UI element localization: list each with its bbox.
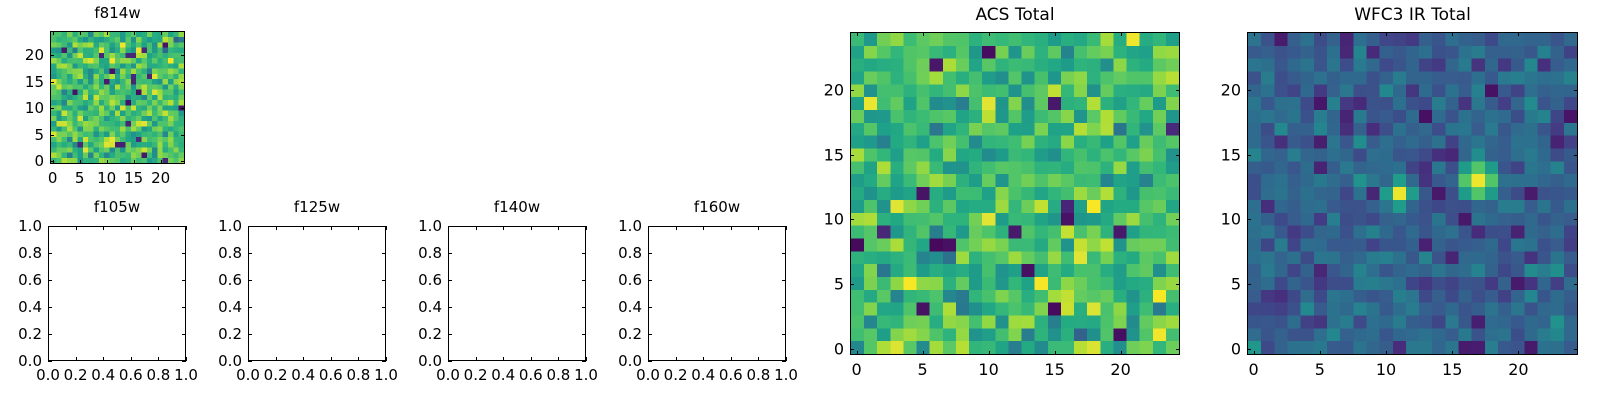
axis-tick-mark — [48, 280, 52, 281]
ytick-label-f125w: 0.8 — [188, 244, 242, 262]
plot-area-f125w[interactable] — [248, 226, 386, 361]
axis-tick-mark — [582, 253, 586, 254]
axis-tick-mark — [703, 226, 704, 230]
axis-tick-mark — [1574, 284, 1578, 285]
xtick-label-wfc3: 10 — [1376, 360, 1396, 379]
ytick-label-wfc3: 15 — [1187, 145, 1241, 164]
xtick-label-f105w: 0.6 — [119, 366, 143, 384]
plot-area-f160w[interactable] — [648, 226, 786, 361]
ytick-label-f125w: 0.0 — [188, 352, 242, 370]
xtick-label-f105w: 0.8 — [146, 366, 170, 384]
axis-tick-mark — [48, 357, 49, 361]
axis-tick-mark — [1386, 32, 1387, 36]
axis-tick-mark — [448, 334, 452, 335]
ytick-label-acs: 10 — [790, 210, 844, 229]
xtick-label-acs: 10 — [978, 360, 998, 379]
axis-tick-mark — [648, 253, 652, 254]
ytick-label-wfc3: 20 — [1187, 81, 1241, 100]
axis-tick-mark — [850, 155, 854, 156]
axis-tick-mark — [186, 357, 187, 361]
axis-tick-mark — [782, 334, 786, 335]
ytick-label-acs: 15 — [790, 145, 844, 164]
axis-tick-mark — [582, 307, 586, 308]
ytick-label-f125w: 0.6 — [188, 271, 242, 289]
axis-tick-mark — [758, 357, 759, 361]
axis-tick-mark — [382, 334, 386, 335]
ytick-label-f140w: 0.8 — [388, 244, 442, 262]
xtick-label-acs: 15 — [1044, 360, 1064, 379]
axis-tick-mark — [1518, 32, 1519, 36]
ytick-label-wfc3: 0 — [1187, 339, 1241, 358]
axis-tick-mark — [558, 226, 559, 230]
axis-tick-mark — [448, 280, 452, 281]
xtick-label-f160w: 0.8 — [746, 366, 770, 384]
ytick-label-f160w: 0.2 — [588, 325, 642, 343]
xtick-label-f105w: 0.0 — [36, 366, 60, 384]
axis-tick-mark — [1320, 32, 1321, 36]
ytick-label-wfc3: 5 — [1187, 274, 1241, 293]
axis-tick-mark — [1176, 90, 1180, 91]
ytick-label-f140w: 1.0 — [388, 217, 442, 235]
axis-tick-mark — [248, 357, 249, 361]
ytick-label-acs: 20 — [790, 81, 844, 100]
axis-tick-mark — [857, 351, 858, 355]
axis-tick-mark — [182, 334, 186, 335]
axis-tick-mark — [1247, 90, 1251, 91]
axis-tick-mark — [731, 226, 732, 230]
heatmap-wfc3 — [1248, 33, 1577, 354]
axis-tick-mark — [76, 226, 77, 230]
axis-tick-mark — [1055, 32, 1056, 36]
axis-tick-mark — [648, 357, 649, 361]
axis-tick-mark — [331, 357, 332, 361]
axis-tick-mark — [582, 361, 586, 362]
axis-tick-mark — [782, 280, 786, 281]
axis-tick-mark — [48, 226, 49, 230]
axis-tick-mark — [1574, 155, 1578, 156]
ytick-label-f160w: 0.4 — [588, 298, 642, 316]
xtick-label-f140w: 0.0 — [436, 366, 460, 384]
plot-area-wfc3[interactable] — [1247, 32, 1578, 355]
axis-tick-mark — [76, 357, 77, 361]
axis-tick-mark — [448, 357, 449, 361]
xtick-label-f160w: 0.4 — [691, 366, 715, 384]
xtick-label-wfc3: 0 — [1249, 360, 1259, 379]
subplot-acs: ACS Total0510152005101520 — [790, 0, 1240, 400]
axis-tick-mark — [1254, 32, 1255, 36]
axis-tick-mark — [1176, 349, 1180, 350]
ytick-label-f140w: 0.2 — [388, 325, 442, 343]
axis-tick-mark — [1452, 351, 1453, 355]
ytick-label-acs: 5 — [790, 274, 844, 293]
axis-tick-mark — [782, 307, 786, 308]
axis-tick-mark — [758, 226, 759, 230]
axis-tick-mark — [531, 357, 532, 361]
axis-tick-mark — [1574, 349, 1578, 350]
xtick-label-wfc3: 5 — [1315, 360, 1325, 379]
ytick-label-f105w: 0.8 — [0, 244, 42, 262]
axis-tick-mark — [503, 226, 504, 230]
axis-tick-mark — [386, 226, 387, 230]
axis-tick-mark — [131, 226, 132, 230]
axis-tick-mark — [248, 361, 252, 362]
axis-tick-mark — [1574, 90, 1578, 91]
axis-tick-mark — [358, 226, 359, 230]
axis-tick-mark — [923, 32, 924, 36]
axis-tick-mark — [131, 357, 132, 361]
ytick-label-f160w: 0.6 — [588, 271, 642, 289]
axis-tick-mark — [582, 280, 586, 281]
xtick-label-f105w: 0.2 — [64, 366, 88, 384]
axis-tick-mark — [1574, 219, 1578, 220]
xtick-label-wfc3: 15 — [1442, 360, 1462, 379]
axis-tick-mark — [1386, 351, 1387, 355]
axis-tick-mark — [303, 357, 304, 361]
xtick-label-f160w: 0.2 — [664, 366, 688, 384]
axis-tick-mark — [648, 361, 652, 362]
axis-tick-mark — [1176, 219, 1180, 220]
plot-area-f140w[interactable] — [448, 226, 586, 361]
axis-tick-mark — [1247, 349, 1251, 350]
axis-tick-mark — [782, 253, 786, 254]
axis-tick-mark — [503, 357, 504, 361]
axis-tick-mark — [923, 351, 924, 355]
ytick-label-f160w: 1.0 — [588, 217, 642, 235]
axis-tick-mark — [48, 334, 52, 335]
axis-tick-mark — [158, 226, 159, 230]
xtick-label-f160w: 0.0 — [636, 366, 660, 384]
ytick-label-f105w: 1.0 — [0, 217, 42, 235]
axis-tick-mark — [1247, 284, 1251, 285]
axis-tick-mark — [386, 357, 387, 361]
axis-tick-mark — [850, 349, 854, 350]
axis-tick-mark — [48, 361, 52, 362]
ytick-label-f105w: 0.6 — [0, 271, 42, 289]
ytick-label-acs: 0 — [790, 339, 844, 358]
xtick-label-acs: 5 — [918, 360, 928, 379]
axis-tick-mark — [1254, 351, 1255, 355]
xtick-label-f105w: 0.4 — [91, 366, 115, 384]
xtick-label-f125w: 0.6 — [319, 366, 343, 384]
axis-tick-mark — [48, 307, 52, 308]
xtick-label-f140w: 0.6 — [519, 366, 543, 384]
axis-tick-mark — [382, 253, 386, 254]
axis-tick-mark — [786, 226, 787, 230]
subplot-title-acs: ACS Total — [790, 5, 1240, 25]
axis-tick-mark — [103, 226, 104, 230]
axis-tick-mark — [382, 280, 386, 281]
axis-tick-mark — [331, 226, 332, 230]
axis-tick-mark — [531, 226, 532, 230]
xtick-label-f125w: 0.2 — [264, 366, 288, 384]
axis-tick-mark — [358, 357, 359, 361]
axis-tick-mark — [731, 357, 732, 361]
axis-tick-mark — [476, 357, 477, 361]
axis-tick-mark — [158, 357, 159, 361]
axis-tick-mark — [448, 253, 452, 254]
ytick-label-f105w: 0.4 — [0, 298, 42, 316]
axis-tick-mark — [182, 307, 186, 308]
axis-tick-mark — [1320, 351, 1321, 355]
axis-tick-mark — [558, 357, 559, 361]
axis-tick-mark — [103, 357, 104, 361]
axis-tick-mark — [676, 226, 677, 230]
ytick-label-f140w: 0.6 — [388, 271, 442, 289]
axis-tick-mark — [382, 307, 386, 308]
axis-tick-mark — [582, 334, 586, 335]
axis-tick-mark — [448, 361, 452, 362]
axis-tick-mark — [1176, 284, 1180, 285]
axis-tick-mark — [182, 361, 186, 362]
axis-tick-mark — [786, 357, 787, 361]
xtick-label-f125w: 0.4 — [291, 366, 315, 384]
axis-tick-mark — [248, 334, 252, 335]
ytick-label-f160w: 0.8 — [588, 244, 642, 262]
axis-tick-mark — [248, 280, 252, 281]
axis-tick-mark — [1452, 32, 1453, 36]
ytick-label-f125w: 1.0 — [188, 217, 242, 235]
axis-tick-mark — [857, 32, 858, 36]
subplot-title-wfc3: WFC3 IR Total — [1187, 5, 1600, 25]
axis-tick-mark — [182, 253, 186, 254]
axis-tick-mark — [182, 280, 186, 281]
plot-area-f105w[interactable] — [48, 226, 186, 361]
axis-tick-mark — [989, 32, 990, 36]
axis-tick-mark — [1176, 155, 1180, 156]
axis-tick-mark — [586, 357, 587, 361]
xtick-label-acs: 20 — [1110, 360, 1130, 379]
xtick-label-f140w: 0.2 — [464, 366, 488, 384]
xtick-label-f140w: 0.8 — [546, 366, 570, 384]
axis-tick-mark — [276, 357, 277, 361]
axis-tick-mark — [382, 361, 386, 362]
xtick-label-wfc3: 20 — [1508, 360, 1528, 379]
xtick-label-f125w: 0.0 — [236, 366, 260, 384]
axis-tick-mark — [648, 280, 652, 281]
axis-tick-mark — [586, 226, 587, 230]
axis-tick-mark — [782, 361, 786, 362]
axis-tick-mark — [676, 357, 677, 361]
axis-tick-mark — [648, 334, 652, 335]
axis-tick-mark — [448, 307, 452, 308]
ytick-label-f105w: 0.2 — [0, 325, 42, 343]
axis-tick-mark — [248, 226, 249, 230]
heatmap-acs — [851, 33, 1179, 354]
axis-tick-mark — [1121, 32, 1122, 36]
matplotlib-figure: f814w0510152005101520f105w0.00.20.40.60.… — [0, 0, 1600, 400]
xtick-label-f140w: 0.4 — [491, 366, 515, 384]
axis-tick-mark — [48, 253, 52, 254]
plot-area-acs[interactable] — [850, 32, 1180, 355]
axis-tick-mark — [1247, 219, 1251, 220]
xtick-label-acs: 0 — [852, 360, 862, 379]
subplot-wfc3: WFC3 IR Total0510152005101520 — [1187, 0, 1600, 400]
ytick-label-f140w: 0.0 — [388, 352, 442, 370]
axis-tick-mark — [276, 226, 277, 230]
axis-tick-mark — [1247, 155, 1251, 156]
axis-tick-mark — [850, 284, 854, 285]
ytick-label-f160w: 0.0 — [588, 352, 642, 370]
ytick-label-f125w: 0.4 — [188, 298, 242, 316]
axis-tick-mark — [248, 253, 252, 254]
ytick-label-f125w: 0.2 — [188, 325, 242, 343]
axis-tick-mark — [303, 226, 304, 230]
xtick-label-f125w: 0.8 — [346, 366, 370, 384]
axis-tick-mark — [989, 351, 990, 355]
axis-tick-mark — [248, 307, 252, 308]
axis-tick-mark — [1518, 351, 1519, 355]
axis-tick-mark — [1121, 351, 1122, 355]
axis-tick-mark — [648, 226, 649, 230]
xtick-label-f160w: 0.6 — [719, 366, 743, 384]
axis-tick-mark — [850, 219, 854, 220]
ytick-label-f140w: 0.4 — [388, 298, 442, 316]
ytick-label-wfc3: 10 — [1187, 210, 1241, 229]
axis-tick-mark — [476, 226, 477, 230]
axis-tick-mark — [448, 226, 449, 230]
axis-tick-mark — [850, 90, 854, 91]
axis-tick-mark — [186, 226, 187, 230]
axis-tick-mark — [703, 357, 704, 361]
axis-tick-mark — [1055, 351, 1056, 355]
axis-tick-mark — [648, 307, 652, 308]
